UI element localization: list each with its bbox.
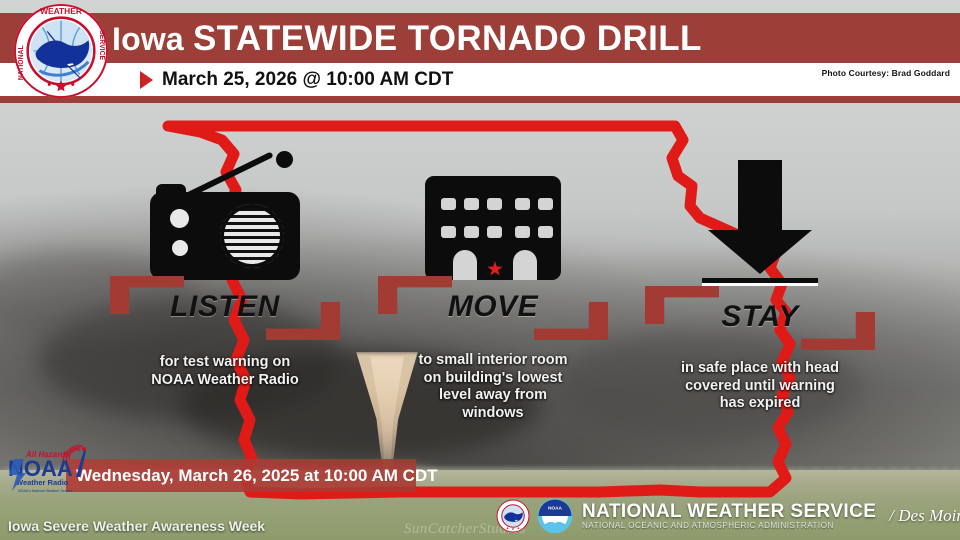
building-window [538,226,553,238]
noaa-weather-radio-logo: All Hazards NOAA Weather Radio NOAA's Na… [6,443,102,497]
svg-text:SERVICE: SERVICE [98,30,105,60]
tornado-drill-graphic: Iowa STATEWIDE TORNADO DRILL March 25, 2… [0,0,960,540]
building-window [441,226,456,238]
radio-body [150,192,300,280]
building-window [464,198,479,210]
ground-line [702,278,818,283]
bracket-left [378,276,452,314]
svg-text:WEATHER: WEATHER [40,6,82,16]
listen-keyword-row: LISTEN [110,280,340,334]
photo-credit: Photo Courtesy: Brad Goddard [822,68,950,78]
radio-antenna-tip [276,151,293,168]
nws-footer: NOAA NATIONAL WEATHER SERVICE NATIONAL O… [496,498,960,534]
campaign-label: Iowa Severe Weather Awareness Week [8,518,265,534]
move-icon-area [378,150,608,280]
building-window [441,198,456,210]
title-lead: Iowa [112,21,184,58]
building-window [487,226,502,238]
move-subtext: to small interior room on building's low… [378,352,608,423]
noaa-seal-icon: NOAA [537,498,573,534]
building-window [538,198,553,210]
drill-datetime: March 25, 2026 @ 10:00 AM CDT [140,65,453,94]
building-door [453,250,477,280]
radio-dial-lower [172,240,188,256]
agency-text: NATIONAL WEATHER SERVICE NATIONAL OCEANI… [582,502,876,531]
stay-icon-area [645,150,875,280]
building-window [464,226,479,238]
building-door [513,250,537,280]
panel-move: MOVE to small interior room on building'… [378,150,608,423]
bracket-right [801,312,875,350]
agency-parent: NATIONAL OCEANIC AND ATMOSPHERIC ADMINIS… [582,521,876,530]
stay-keyword-row: STAY [645,290,875,344]
stay-keyword: STAY [721,300,799,334]
move-keyword-row: MOVE [378,280,608,334]
radio-speaker [220,204,284,268]
down-arrow-icon [708,160,812,280]
agency-name: NATIONAL WEATHER SERVICE [582,502,876,522]
weather-radio-icon [150,160,300,280]
svg-text:NATIONAL: NATIONAL [18,45,25,80]
nws-seal-icon: WEATHER NATIONAL SERVICE [12,2,110,100]
listen-keyword: LISTEN [170,290,280,324]
move-keyword: MOVE [448,290,538,324]
radio-dial-upper [170,209,189,228]
panel-listen: LISTEN for test warning on NOAA Weather … [110,150,340,389]
play-triangle-icon [140,71,153,89]
bracket-right [534,302,608,340]
office-name: / Des Moines, IA [889,506,960,526]
stay-subtext: in safe place with head covered until wa… [645,360,875,413]
drill-date-banner-text: Wednesday, March 26, 2025 at 10:00 AM CD… [76,466,438,486]
drill-datetime-text: March 25, 2026 @ 10:00 AM CDT [162,69,453,91]
building-shelter-icon [425,176,561,280]
svg-text:NOAA: NOAA [548,506,562,511]
title-main: STATEWIDE TORNADO DRILL [193,19,702,59]
svg-text:NOAA's National Weather Servic: NOAA's National Weather Service [18,489,72,493]
bracket-left [645,286,719,324]
panel-stay: STAY in safe place with head covered unt… [645,150,875,413]
listen-subtext: for test warning on NOAA Weather Radio [110,354,340,389]
arrow-head [708,230,812,274]
nws-seal-small-icon [496,499,530,533]
building-window [515,198,530,210]
drill-date-banner: Wednesday, March 26, 2025 at 10:00 AM CD… [66,459,416,492]
header-bar-bottom [0,96,960,103]
building-window [487,198,502,210]
listen-icon-area [110,150,340,280]
building-window [515,226,530,238]
arrow-shaft [738,160,782,234]
page-title: Iowa STATEWIDE TORNADO DRILL [112,16,702,62]
svg-text:Weather Radio: Weather Radio [16,478,69,487]
